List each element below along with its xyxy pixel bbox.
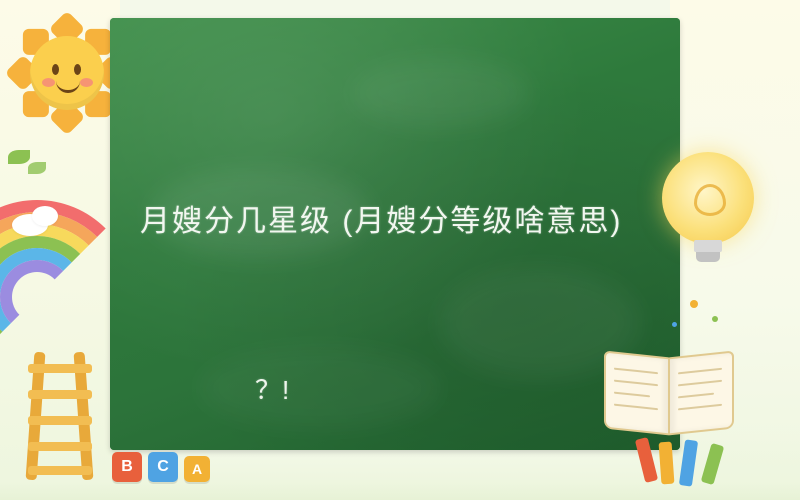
ladder-rung <box>28 442 92 451</box>
decor-dot <box>690 300 698 308</box>
book-page-left <box>604 351 670 436</box>
board-chalk-mark: ？! <box>255 370 290 407</box>
sun-icon <box>12 18 122 128</box>
chalk-smudge <box>350 58 530 128</box>
ladder-rung <box>28 390 92 399</box>
leaf-icon <box>8 150 30 164</box>
ladder-rung <box>28 364 92 373</box>
lightbulb-icon <box>660 150 756 280</box>
ladder-rung <box>28 466 92 475</box>
ladder-icon <box>22 352 108 480</box>
chalk-smudge <box>200 348 440 428</box>
lightbulb-filament <box>694 184 726 216</box>
alphabet-block: C <box>148 452 178 482</box>
decor-dot <box>712 316 718 322</box>
sun-smile <box>56 76 80 93</box>
leaf-icon <box>28 162 46 174</box>
ladder-rung <box>28 416 92 425</box>
lightbulb-base-cap <box>696 252 720 262</box>
alphabet-block: B <box>112 452 142 482</box>
alphabet-block: A <box>184 456 210 482</box>
board-headline: 月嫂分几星级 (月嫂分等级啥意思) <box>140 196 660 248</box>
decor-dot <box>672 322 677 327</box>
lightbulb-base <box>694 240 722 252</box>
sun-eye-right <box>74 64 81 75</box>
sun-face <box>12 18 122 128</box>
book-page-right <box>668 351 734 436</box>
open-book-icon <box>604 348 732 432</box>
sun-blush-right <box>80 78 93 87</box>
sun-blush-left <box>42 78 55 87</box>
chalkboard: 月嫂分几星级 (月嫂分等级啥意思) ？! <box>110 18 680 450</box>
sun-eye-left <box>52 64 59 75</box>
banner-image: 月嫂分几星级 (月嫂分等级啥意思) ？! <box>0 0 800 500</box>
